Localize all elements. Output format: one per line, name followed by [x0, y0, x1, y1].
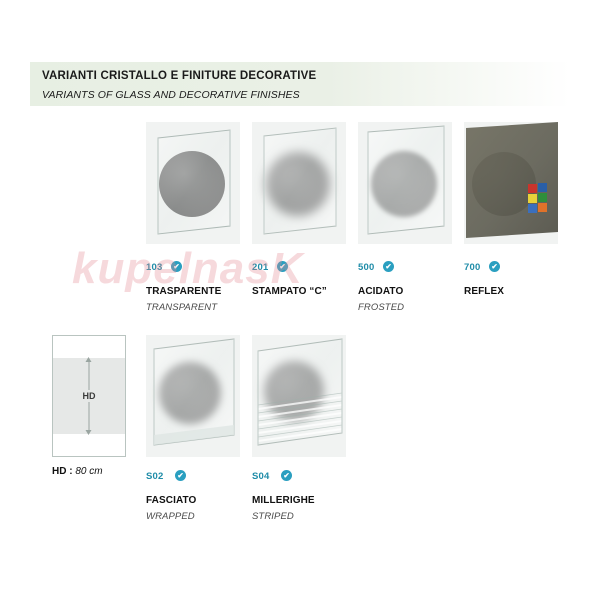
page-subtitle: VARIANTS OF GLASS AND DECORATIVE FINISHE… [42, 89, 300, 101]
finish-code-700: 700 [464, 262, 480, 273]
check-icon-S02: ✔ [175, 470, 186, 481]
finish-name-S04: MILLERIGHE [252, 495, 315, 506]
glass-sample-transparent-icon [146, 122, 240, 244]
swatch-image-500 [358, 122, 452, 244]
finish-name-201: STAMPATO “C” [252, 286, 327, 297]
check-icon-201: ✔ [277, 261, 288, 272]
finish-name-en-500: FROSTED [358, 302, 404, 313]
hd-caption-label: HD : [52, 466, 73, 477]
finish-name-en-S04: STRIPED [252, 511, 294, 522]
swatch-image-103 [146, 122, 240, 244]
swatch-image-201 [252, 122, 346, 244]
finish-code-500: 500 [358, 262, 374, 273]
glass-sample-frosted-icon [358, 122, 452, 244]
check-icon-700: ✔ [489, 261, 500, 272]
hd-diagram: HD [52, 335, 126, 457]
finish-name-en-S02: WRAPPED [146, 511, 195, 522]
catalog-page: VARIANTI CRISTALLO E FINITURE DECORATIVE… [0, 0, 600, 600]
check-icon-500: ✔ [383, 261, 394, 272]
finish-code-S02: S02 [146, 471, 164, 482]
hd-caption: HD : 80 cm [52, 466, 103, 477]
finish-code-103: 103 [146, 262, 162, 273]
finish-name-en-103: TRANSPARENT [146, 302, 217, 313]
hd-tag-label: HD [80, 390, 99, 402]
swatch-image-S04 [252, 335, 346, 457]
finish-code-S04: S04 [252, 471, 270, 482]
finish-code-201: 201 [252, 262, 268, 273]
finish-name-500: ACIDATO [358, 286, 403, 297]
finish-name-S02: FASCIATO [146, 495, 196, 506]
glass-sample-printed-c-icon [252, 122, 346, 244]
swatch-image-S02 [146, 335, 240, 457]
page-title: VARIANTI CRISTALLO E FINITURE DECORATIVE [42, 70, 316, 82]
glass-sample-striped-icon [252, 335, 346, 457]
hd-caption-value: 80 cm [75, 466, 102, 477]
check-icon-S04: ✔ [281, 470, 292, 481]
finish-name-103: TRASPARENTE [146, 286, 221, 297]
finish-name-700: REFLEX [464, 286, 504, 297]
glass-sample-reflex-icon [464, 122, 558, 244]
swatch-image-700 [464, 122, 558, 244]
check-icon-103: ✔ [171, 261, 182, 272]
glass-sample-wrapped-icon [146, 335, 240, 457]
